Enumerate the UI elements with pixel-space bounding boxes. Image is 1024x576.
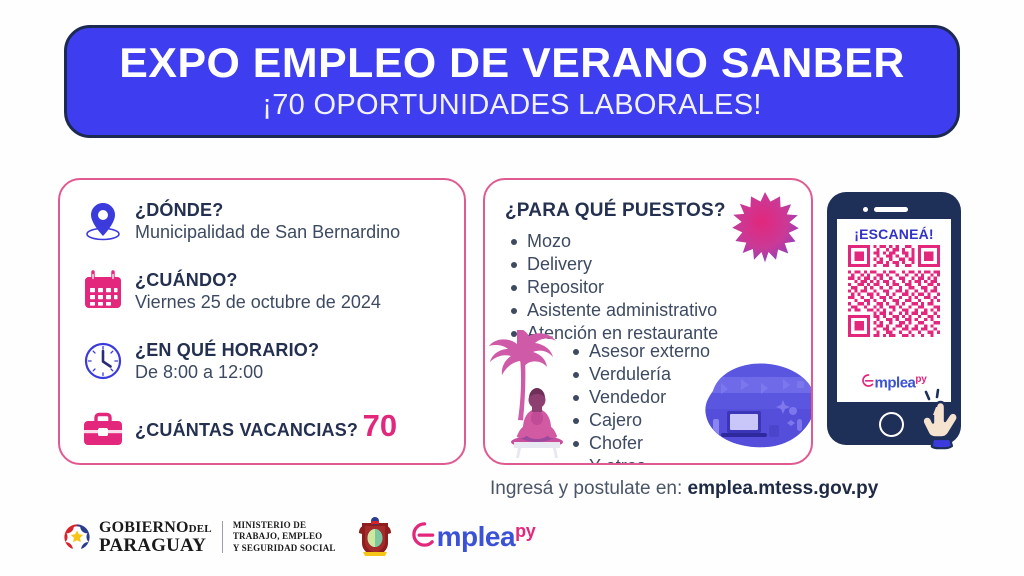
cta-line: Ingresá y postulate en: emplea.mtess.gov… <box>490 478 878 500</box>
cta-prefix: Ingresá y postulate en: <box>490 478 682 499</box>
detail-question: ¿DÓNDE? <box>135 200 223 220</box>
job-positions-card: ¿PARA QUÉ PUESTOS? Mozo Delivery Reposit… <box>483 178 813 465</box>
detail-text-when: ¿CUÁNDO? Viernes 25 de octubre de 2024 <box>135 268 381 314</box>
seated-person <box>511 388 563 458</box>
job-list-item: Verdulería <box>571 363 710 386</box>
detail-question: ¿CUÁNDO? <box>135 270 238 290</box>
job-list-item: Repositor <box>509 276 718 299</box>
header-banner: EXPO EMPLEO DE VERANO SANBER ¡70 OPORTUN… <box>64 25 960 138</box>
phone-speaker <box>874 207 908 212</box>
emplea-logo-footer: mpleapy <box>412 521 536 553</box>
briefcase-icon <box>80 408 126 454</box>
footer-logos: GOBIERNODEL PARAGUAY MINISTERIO DE TRABA… <box>62 515 535 559</box>
ministerio-wordmark: MINISTERIO DE TRABAJO, EMPLEO Y SEGURIDA… <box>233 520 336 554</box>
detail-question: ¿CUÁNTAS VACANCIAS? <box>135 420 358 440</box>
detail-text-where: ¿DÓNDE? Municipalidad de San Bernardino <box>135 198 400 244</box>
clock-icon <box>80 338 126 384</box>
phone-camera-icon <box>863 207 868 212</box>
detail-row-schedule: ¿EN QUÉ HORARIO? De 8:00 a 12:00 <box>80 338 319 384</box>
scan-label: ¡ESCANEÁ! <box>837 226 951 242</box>
detail-row-when: ¿CUÁNDO? Viernes 25 de octubre de 2024 <box>80 268 381 314</box>
ministerio-line-1: MINISTERIO DE <box>233 520 336 531</box>
gobierno-paraguay-wordmark: GOBIERNODEL PARAGUAY <box>99 520 212 555</box>
emplea-wordmark: mplea <box>437 521 515 552</box>
emplea-py-suffix: py <box>915 374 926 385</box>
tap-hand-icon <box>911 387 977 453</box>
banner-title: EXPO EMPLEO DE VERANO SANBER <box>119 41 905 85</box>
detail-row-vacancies: ¿CUÁNTAS VACANCIAS? 70 <box>80 408 397 454</box>
cta-url[interactable]: emplea.mtess.gov.py <box>688 478 879 499</box>
detail-answer: De 8:00 a 12:00 <box>135 362 319 384</box>
job-positions-title: ¿PARA QUÉ PUESTOS? <box>505 200 726 222</box>
detail-text-vacancies: ¿CUÁNTAS VACANCIAS? 70 <box>135 408 397 442</box>
job-list-item: Vendedor <box>571 386 710 409</box>
vacancies-count: 70 <box>363 408 397 443</box>
emplea-py-suffix: py <box>515 521 535 541</box>
banner-subtitle: ¡70 OPORTUNIDADES LABORALES! <box>262 90 761 122</box>
detail-answer: Viernes 25 de octubre de 2024 <box>135 292 381 314</box>
palm-tree-illustration <box>487 330 577 460</box>
detail-row-where: ¿DÓNDE? Municipalidad de San Bernardino <box>80 198 400 244</box>
job-list-item: Chofer <box>571 432 710 455</box>
detail-text-schedule: ¿EN QUÉ HORARIO? De 8:00 a 12:00 <box>135 338 319 384</box>
emplea-e-mark-icon <box>412 522 437 552</box>
poster-canvas: EXPO EMPLEO DE VERANO SANBER ¡70 OPORTUN… <box>0 0 1024 576</box>
qr-code[interactable] <box>848 245 940 337</box>
job-list-item: Asistente administrativo <box>509 299 718 322</box>
workspace-blob-illustration <box>697 361 813 453</box>
calendar-icon <box>80 268 126 314</box>
ministerio-line-2: TRABAJO, EMPLEO <box>233 531 336 542</box>
gobierno-line1: GOBIERNO <box>99 519 189 536</box>
event-details-card: ¿DÓNDE? Municipalidad de San Bernardino <box>58 178 466 465</box>
sun-icon <box>727 190 803 266</box>
ministerio-line-3: Y SEGURIDAD SOCIAL <box>233 543 336 554</box>
job-list-item: Cajero <box>571 409 710 432</box>
job-list-secondary: Asesor externo Verdulería Vendedor Cajer… <box>571 340 710 465</box>
san-bernardino-coat-of-arms-icon <box>356 515 394 559</box>
phone-home-button[interactable] <box>879 412 904 437</box>
job-list-item: Y otros <box>571 455 710 465</box>
emplea-e-mark-icon <box>862 374 875 392</box>
emplea-wordmark: mplea <box>875 374 916 391</box>
footer-divider <box>222 521 223 553</box>
phone-screen: ¡ESCANEÁ! <box>837 219 951 402</box>
detail-answer: Municipalidad de San Bernardino <box>135 222 400 244</box>
job-list-item: Mozo <box>509 230 718 253</box>
phone-qr-mockup: ¡ESCANEÁ! <box>827 192 961 445</box>
detail-question: ¿EN QUÉ HORARIO? <box>135 340 319 360</box>
gobierno-del: DEL <box>189 523 212 535</box>
gobierno-line2: PARAGUAY <box>99 536 212 555</box>
location-pin-icon <box>80 198 126 244</box>
job-list-item: Delivery <box>509 253 718 276</box>
paraguay-government-emblem-icon <box>62 522 92 552</box>
job-list-item: Asesor externo <box>571 340 710 363</box>
job-list-primary: Mozo Delivery Repositor Asistente admini… <box>509 230 718 345</box>
